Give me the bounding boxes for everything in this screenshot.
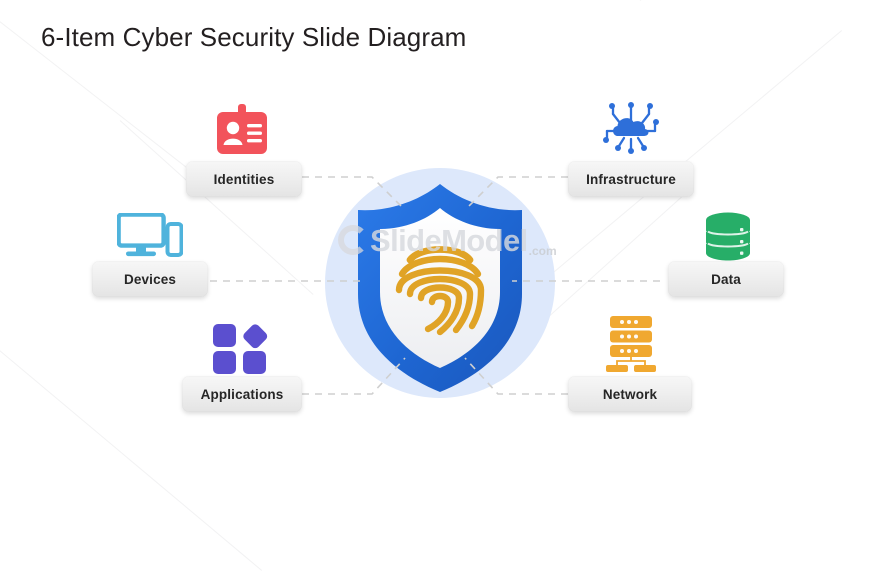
label-applications[interactable]: Applications <box>182 376 302 412</box>
app-blocks-icon <box>212 318 274 374</box>
label-data-text: Data <box>711 272 741 287</box>
cloud-network-icon <box>602 100 660 156</box>
label-infrastructure-text: Infrastructure <box>586 172 676 187</box>
label-network[interactable]: Network <box>568 376 692 412</box>
monitor-phone-icon <box>117 213 183 259</box>
label-identities-text: Identities <box>214 172 275 187</box>
database-icon <box>704 212 752 262</box>
label-applications-text: Applications <box>201 387 284 402</box>
slide-canvas: 6-Item Cyber Security Slide Diagram <box>0 0 870 489</box>
label-devices-text: Devices <box>124 272 176 287</box>
label-network-text: Network <box>603 387 657 402</box>
label-infrastructure[interactable]: Infrastructure <box>568 161 694 197</box>
server-rack-icon <box>602 316 660 372</box>
id-badge-icon <box>214 104 270 156</box>
label-devices[interactable]: Devices <box>92 261 208 297</box>
label-data[interactable]: Data <box>668 261 784 297</box>
label-identities[interactable]: Identities <box>186 161 302 197</box>
